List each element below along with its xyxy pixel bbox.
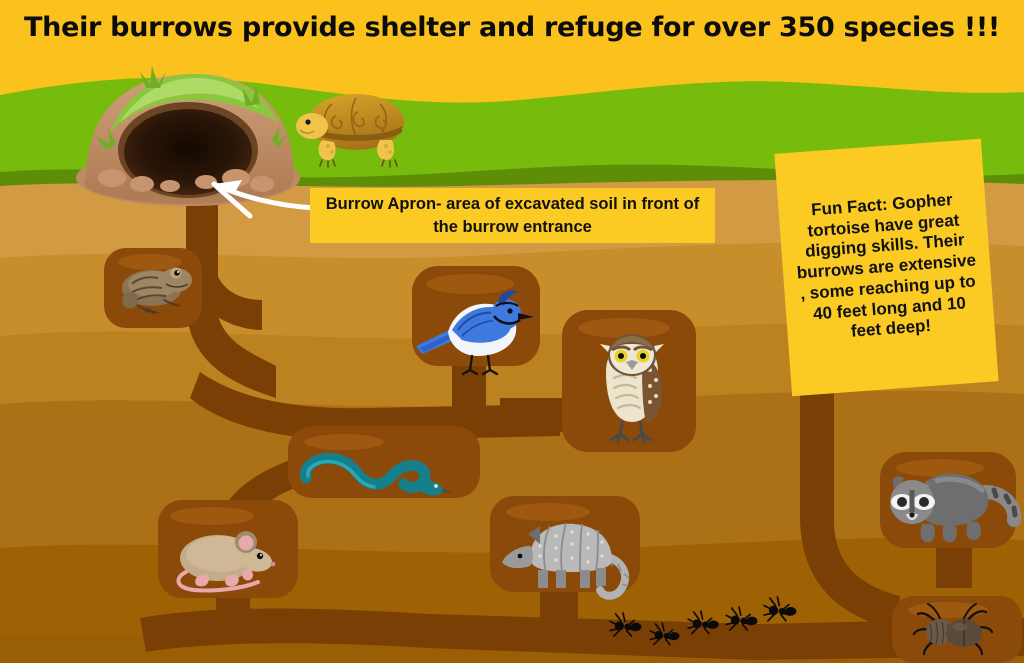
callout-fun-fact: Fun Fact: Gopher tortoise have great dig…: [774, 139, 998, 397]
tortoise-hindleg: [377, 140, 394, 160]
callout-fun-fact-text: Fun Fact: Gopher tortoise have great dig…: [788, 188, 985, 346]
tortoise-head: [296, 113, 328, 139]
callout-burrow-apron-text: Burrow Apron- area of excavated soil in …: [320, 193, 705, 238]
infographic-poster: Their burrows provide shelter and refuge…: [0, 0, 1024, 663]
callout-burrow-apron: Burrow Apron- area of excavated soil in …: [310, 188, 715, 243]
